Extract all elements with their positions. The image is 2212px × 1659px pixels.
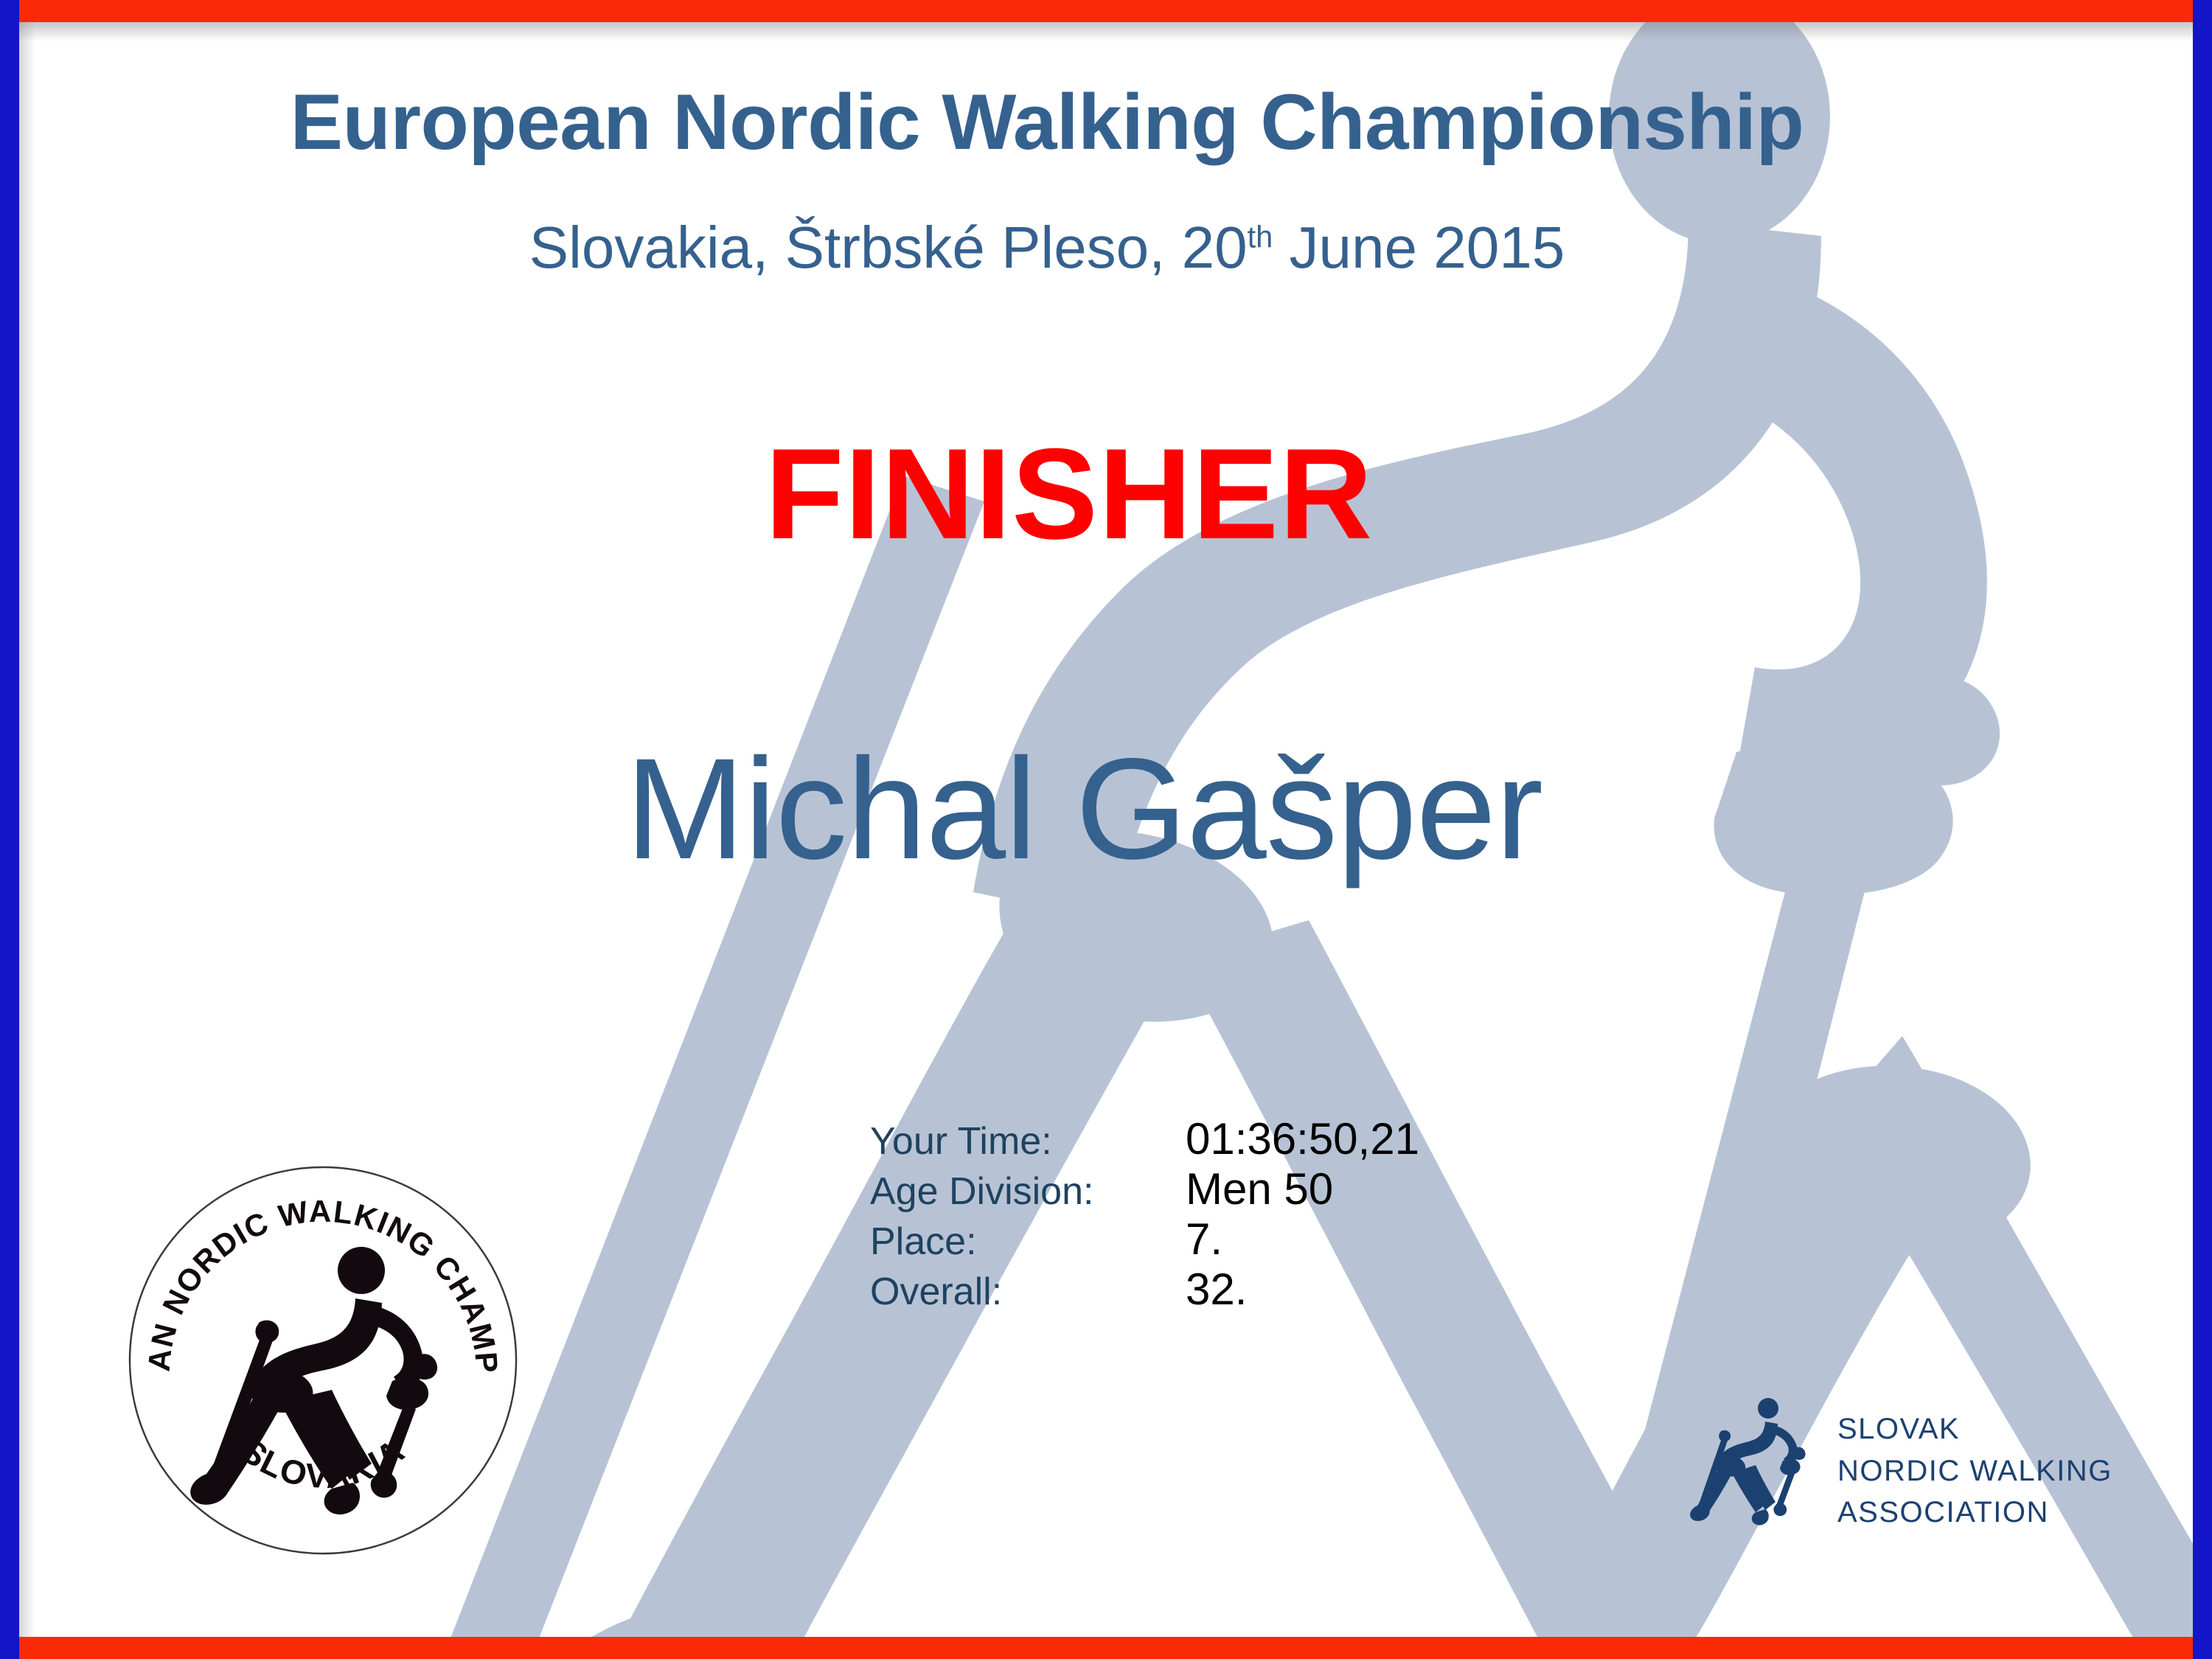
border-top-red (0, 0, 2212, 22)
result-value-overall: 32. (1186, 1264, 1247, 1315)
championship-circle-logo: EUROPEAN NORDIC WALKING CHAMPIONSHIP SLO… (124, 1161, 522, 1559)
border-left-blue (0, 0, 19, 1659)
result-value-age-division: Men 50 (1186, 1164, 1333, 1214)
assoc-line-2: NORDIC WALKING (1837, 1450, 2112, 1492)
result-label-overall: Overall: (870, 1270, 1186, 1314)
athlete-name: Michal Gašper (0, 726, 2168, 891)
inner-shadow-left (19, 22, 35, 1637)
certificate-canvas: European Nordic Walking Championship Slo… (0, 0, 2212, 1659)
table-row: Overall: 32. (870, 1264, 1419, 1314)
inner-shadow-top (19, 22, 2193, 41)
assoc-line-1: SLOVAK (1837, 1408, 2112, 1450)
status-badge: FINISHER (0, 420, 2138, 568)
result-label-place: Place: (870, 1220, 1186, 1264)
table-row: Age Division: Men 50 (870, 1164, 1419, 1214)
result-value-place: 7. (1186, 1214, 1222, 1265)
table-row: Your Time: 01:36:50,21 (870, 1113, 1419, 1164)
result-label-your-time: Your Time: (870, 1119, 1186, 1164)
assoc-line-3: ASSOCIATION (1837, 1492, 2112, 1534)
location-date-line: Slovakia, Štrbské Pleso, 20th June 2015 (0, 214, 2094, 282)
association-logo: SLOVAK NORDIC WALKING ASSOCIATION (1688, 1386, 2168, 1556)
result-label-age-division: Age Division: (870, 1169, 1186, 1214)
page-title: European Nordic Walking Championship (0, 76, 2094, 167)
location-date-suffix: June 2015 (1273, 215, 1565, 280)
border-right-blue (2193, 0, 2212, 1659)
table-row: Place: 7. (870, 1214, 1419, 1264)
association-logo-text: SLOVAK NORDIC WALKING ASSOCIATION (1837, 1408, 2112, 1534)
nordic-walker-icon (1688, 1392, 1821, 1551)
results-table: Your Time: 01:36:50,21 Age Division: Men… (870, 1113, 1419, 1314)
border-bottom-red (0, 1637, 2212, 1659)
result-value-your-time: 01:36:50,21 (1186, 1113, 1419, 1164)
location-date-prefix: Slovakia, Štrbské Pleso, 20 (529, 215, 1248, 280)
ordinal-suffix: th (1248, 219, 1273, 254)
